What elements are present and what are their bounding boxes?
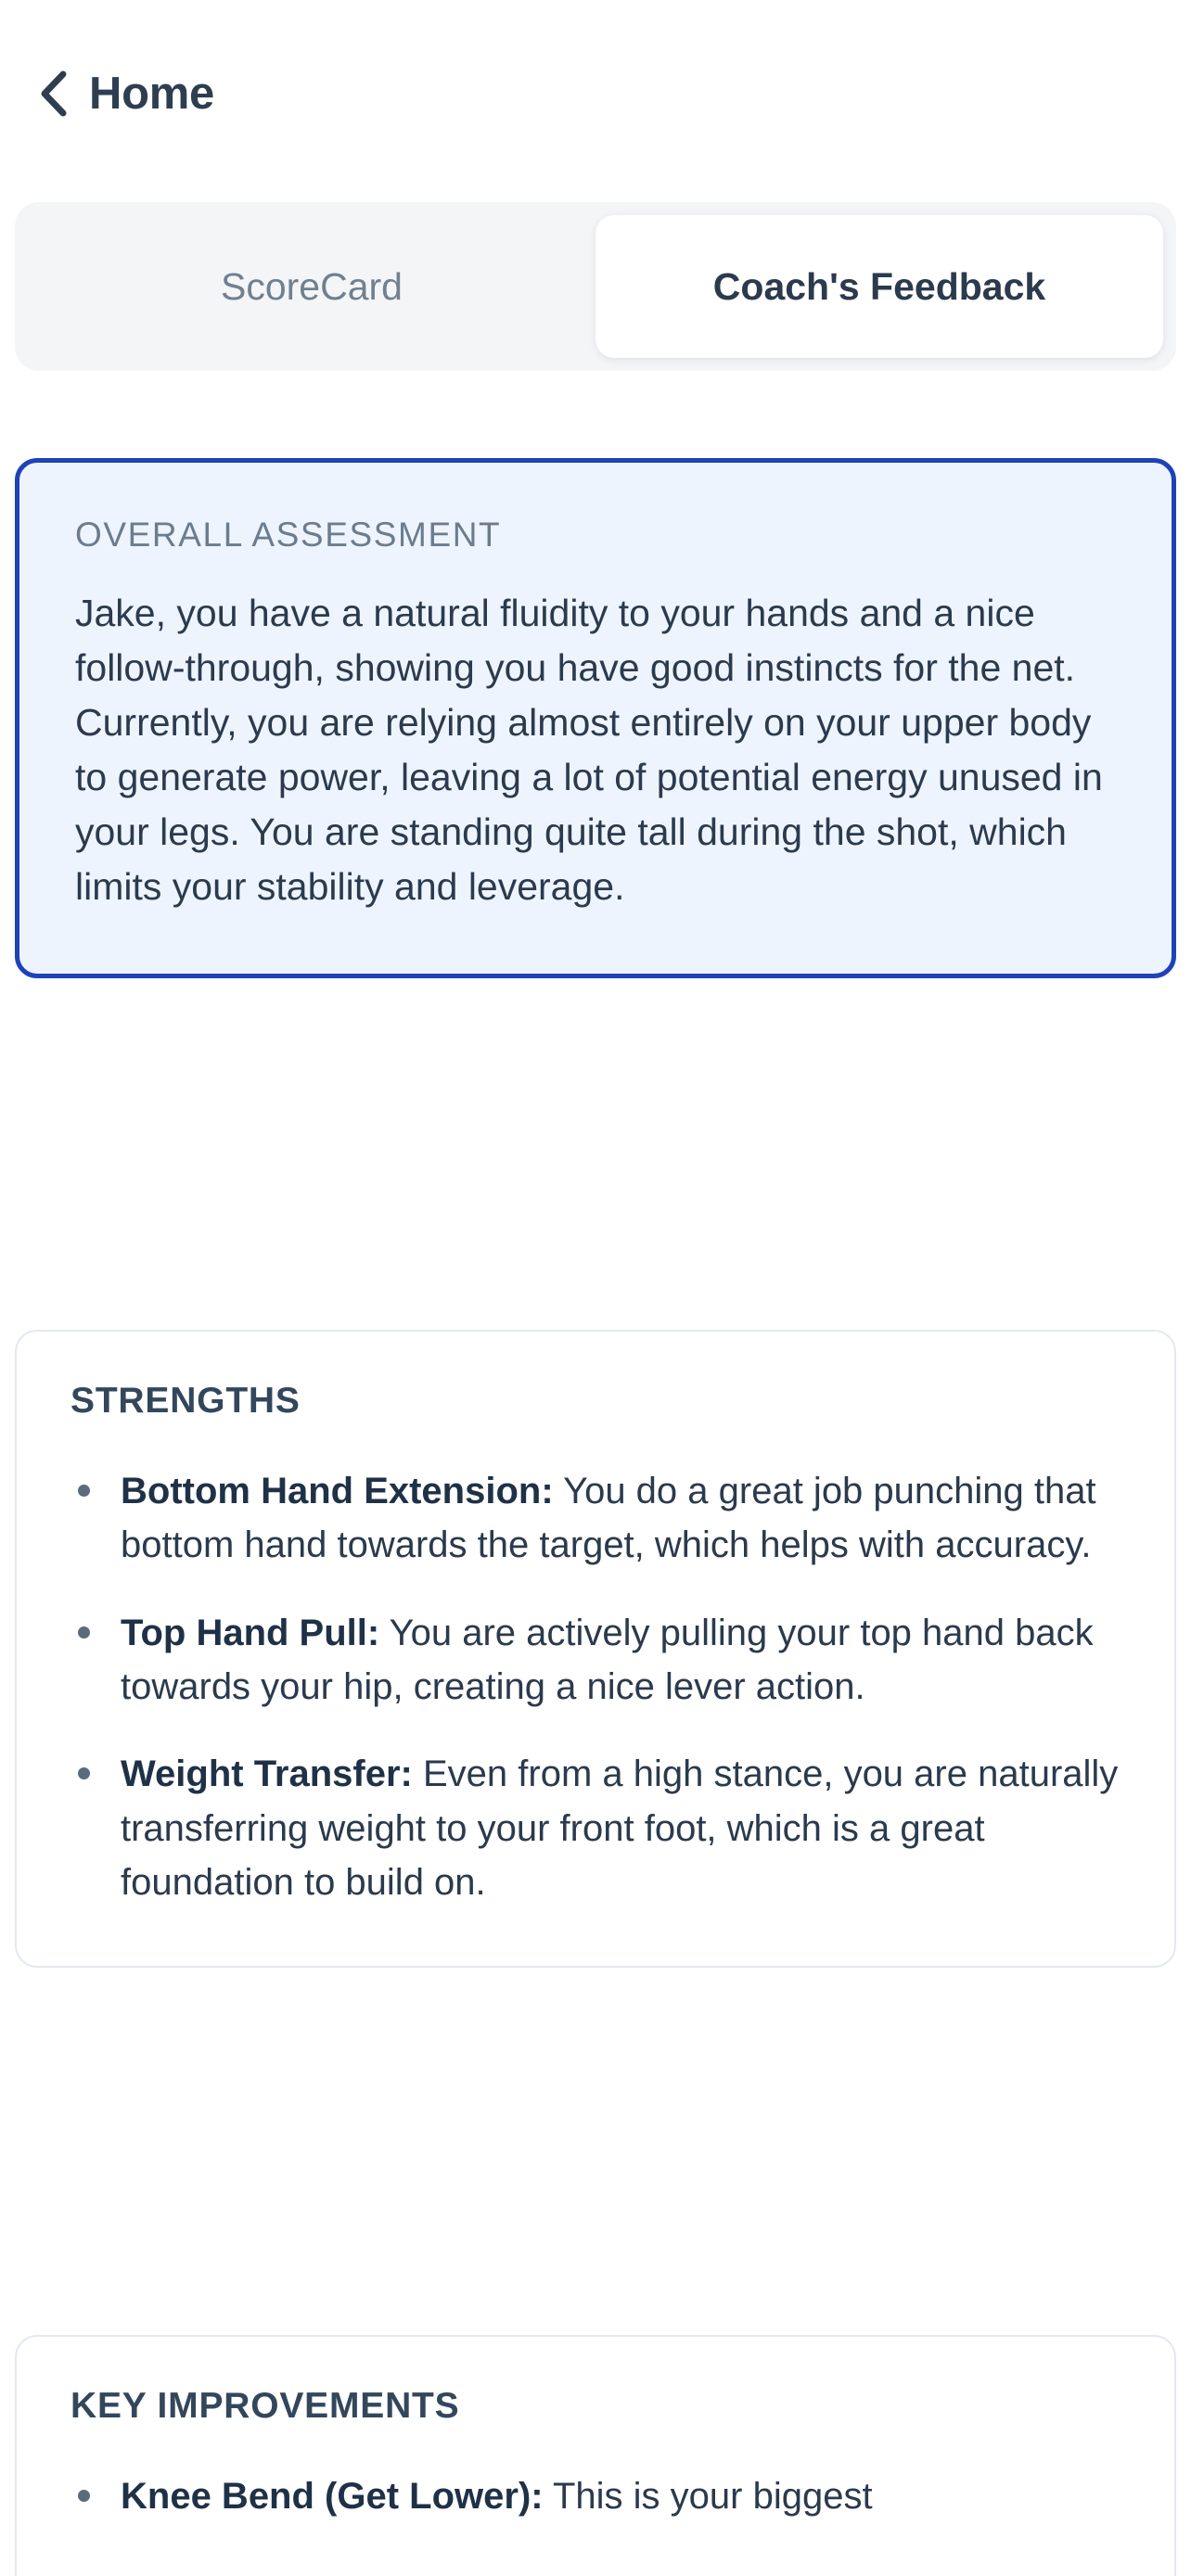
list-item-label: Weight Transfer: — [121, 1753, 413, 1794]
list-item: Knee Bend (Get Lower): This is your bigg… — [70, 2469, 1121, 2523]
coach-feedback-screen: Home ScoreCard Coach's Feedback OVERALL … — [0, 0, 1191, 2576]
key-improvements-title: KEY IMPROVEMENTS — [70, 2387, 1121, 2427]
bullet-dot-icon — [78, 1485, 90, 1497]
overall-assessment-eyebrow: OVERALL ASSESSMENT — [75, 516, 1116, 555]
strengths-title: STRENGTHS — [70, 1382, 1121, 1422]
tab-coachs-feedback[interactable]: Coach's Feedback — [595, 215, 1163, 358]
bullet-dot-icon — [78, 2490, 90, 2502]
strengths-card: STRENGTHS Bottom Hand Extension: You do … — [15, 1330, 1176, 1968]
list-item-label: Knee Bend (Get Lower): — [121, 2476, 544, 2517]
tab-bar: ScoreCard Coach's Feedback — [15, 202, 1176, 371]
list-item: Weight Transfer: Even from a high stance… — [70, 1747, 1121, 1909]
page-title: Home — [89, 71, 214, 117]
header: Home — [0, 0, 1191, 130]
back-button[interactable]: Home — [37, 70, 214, 118]
list-item-text: This is your biggest — [544, 2476, 873, 2517]
overall-assessment-card: OVERALL ASSESSMENT Jake, you have a natu… — [15, 458, 1176, 978]
chevron-left-icon — [37, 70, 69, 118]
list-item-label: Bottom Hand Extension: — [121, 1471, 554, 1511]
tab-scorecard[interactable]: ScoreCard — [28, 215, 595, 358]
list-item: Top Hand Pull: You are actively pulling … — [70, 1606, 1121, 1715]
overall-assessment-body: Jake, you have a natural fluidity to you… — [75, 586, 1116, 914]
key-improvements-list: Knee Bend (Get Lower): This is your bigg… — [70, 2469, 1121, 2523]
bullet-dot-icon — [78, 1626, 90, 1639]
list-item-label: Top Hand Pull: — [121, 1613, 379, 1653]
bullet-dot-icon — [78, 1767, 90, 1779]
key-improvements-card: KEY IMPROVEMENTS Knee Bend (Get Lower): … — [15, 2335, 1176, 2576]
list-item: Bottom Hand Extension: You do a great jo… — [70, 1464, 1121, 1573]
strengths-list: Bottom Hand Extension: You do a great jo… — [70, 1464, 1121, 1910]
